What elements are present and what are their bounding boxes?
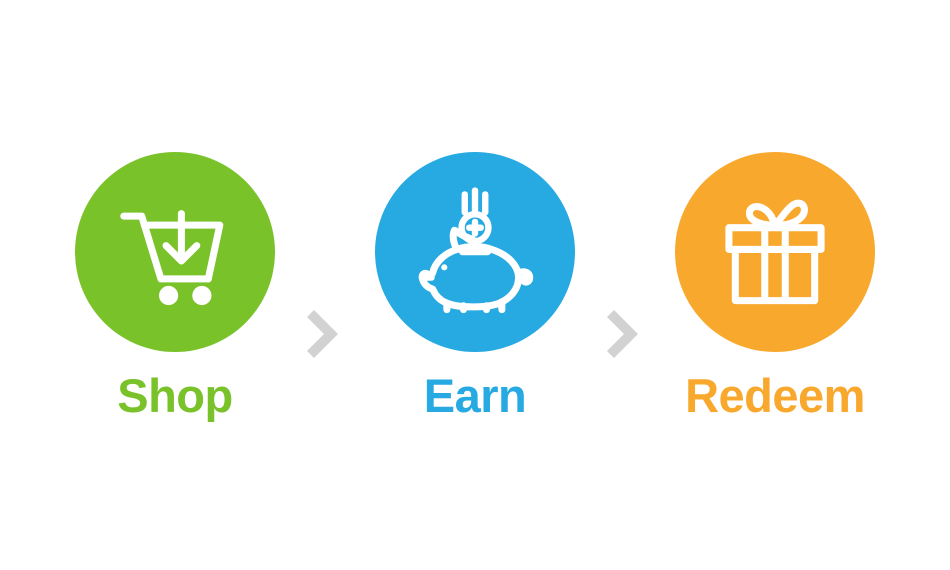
- step-shop-badge[interactable]: [75, 152, 275, 352]
- step-redeem-label: Redeem: [685, 372, 865, 419]
- separator-1: [291, 210, 359, 361]
- step-earn-badge[interactable]: [375, 152, 575, 352]
- gift-box-icon: [711, 188, 839, 316]
- separator-2: [591, 210, 659, 361]
- shopping-cart-download-icon: [111, 188, 239, 316]
- step-earn[interactable]: Earn: [359, 152, 591, 419]
- piggy-bank-coin-icon: [411, 188, 539, 316]
- step-redeem-badge[interactable]: [675, 152, 875, 352]
- step-earn-label: Earn: [424, 372, 527, 419]
- step-flow: Shop: [0, 0, 950, 570]
- infographic-canvas: Shop: [0, 0, 950, 570]
- step-redeem[interactable]: Redeem: [659, 152, 891, 419]
- chevron-right-icon: [605, 307, 645, 361]
- chevron-right-icon: [305, 307, 345, 361]
- step-shop-label: Shop: [117, 372, 232, 419]
- step-shop[interactable]: Shop: [59, 152, 291, 419]
